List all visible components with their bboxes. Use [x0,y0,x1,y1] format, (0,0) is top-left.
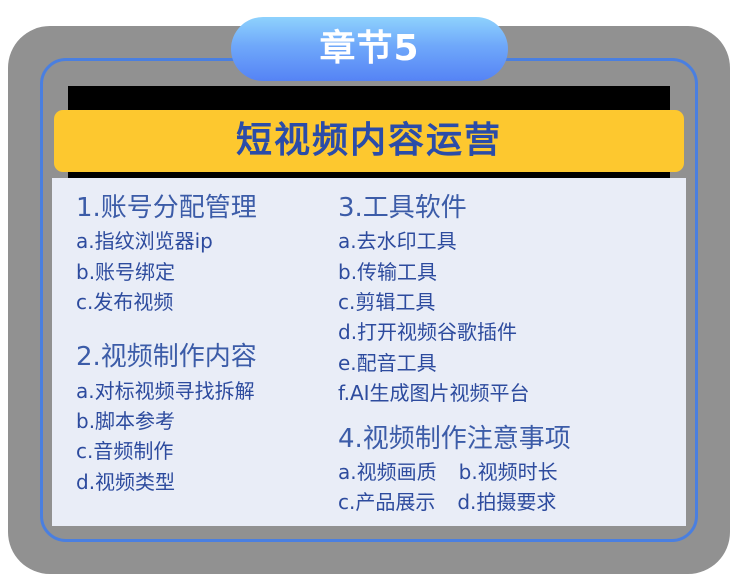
section-2: 2.视频制作内容 a.对标视频寻找拆解 b.脚本参考 c.音频制作 d.视频类型 [76,341,338,497]
list-item: d.视频类型 [76,467,338,497]
content-panel: 1.账号分配管理 a.指纹浏览器ip b.账号绑定 c.发布视频 2.视频制作内… [52,178,686,526]
left-column: 1.账号分配管理 a.指纹浏览器ip b.账号绑定 c.发布视频 2.视频制作内… [52,192,338,526]
list-item: c.音频制作 [76,436,338,466]
list-item: b.脚本参考 [76,406,338,436]
list-item: e.配音工具 [338,348,686,378]
page-title: 短视频内容运营 [236,123,502,159]
list-item: c.发布视频 [76,287,338,317]
list-item: d.拍摄要求 [457,487,556,517]
list-item: a.视频画质 [338,457,437,487]
chapter-badge-label: 章节5 [319,31,419,67]
list-item-row: a.视频画质 b.视频时长 [338,457,686,487]
title-bar: 短视频内容运营 [54,110,684,172]
section-4-heading: 4.视频制作注意事项 [338,423,686,456]
slide-canvas: 短视频内容运营 章节5 1.账号分配管理 a.指纹浏览器ip b.账号绑定 c.… [0,0,738,581]
right-column: 3.工具软件 a.去水印工具 b.传输工具 c.剪辑工具 d.打开视频谷歌插件 … [338,192,686,526]
list-item: b.视频时长 [459,457,558,487]
list-item: a.对标视频寻找拆解 [76,376,338,406]
list-item-row: c.产品展示 d.拍摄要求 [338,487,686,517]
list-item: a.去水印工具 [338,226,686,256]
list-item: f.AI生成图片视频平台 [338,378,686,408]
list-item: d.打开视频谷歌插件 [338,317,686,347]
list-item: a.指纹浏览器ip [76,226,338,256]
section-2-heading: 2.视频制作内容 [76,341,338,374]
section-3-items: a.去水印工具 b.传输工具 c.剪辑工具 d.打开视频谷歌插件 e.配音工具 … [338,226,686,408]
section-spacer [338,411,686,423]
list-item: b.传输工具 [338,257,686,287]
section-1-items: a.指纹浏览器ip b.账号绑定 c.发布视频 [76,226,338,317]
list-item: c.产品展示 [338,487,435,517]
section-3: 3.工具软件 a.去水印工具 b.传输工具 c.剪辑工具 d.打开视频谷歌插件 … [338,192,686,409]
section-1-heading: 1.账号分配管理 [76,192,338,225]
section-2-items: a.对标视频寻找拆解 b.脚本参考 c.音频制作 d.视频类型 [76,376,338,498]
section-3-heading: 3.工具软件 [338,192,686,225]
list-item: c.剪辑工具 [338,287,686,317]
section-4-items: a.视频画质 b.视频时长 c.产品展示 d.拍摄要求 [338,457,686,518]
chapter-badge: 章节5 [231,17,508,81]
section-spacer [76,319,338,341]
section-4: 4.视频制作注意事项 a.视频画质 b.视频时长 c.产品展示 d.拍摄要求 [338,423,686,518]
section-1: 1.账号分配管理 a.指纹浏览器ip b.账号绑定 c.发布视频 [76,192,338,317]
list-item: b.账号绑定 [76,257,338,287]
